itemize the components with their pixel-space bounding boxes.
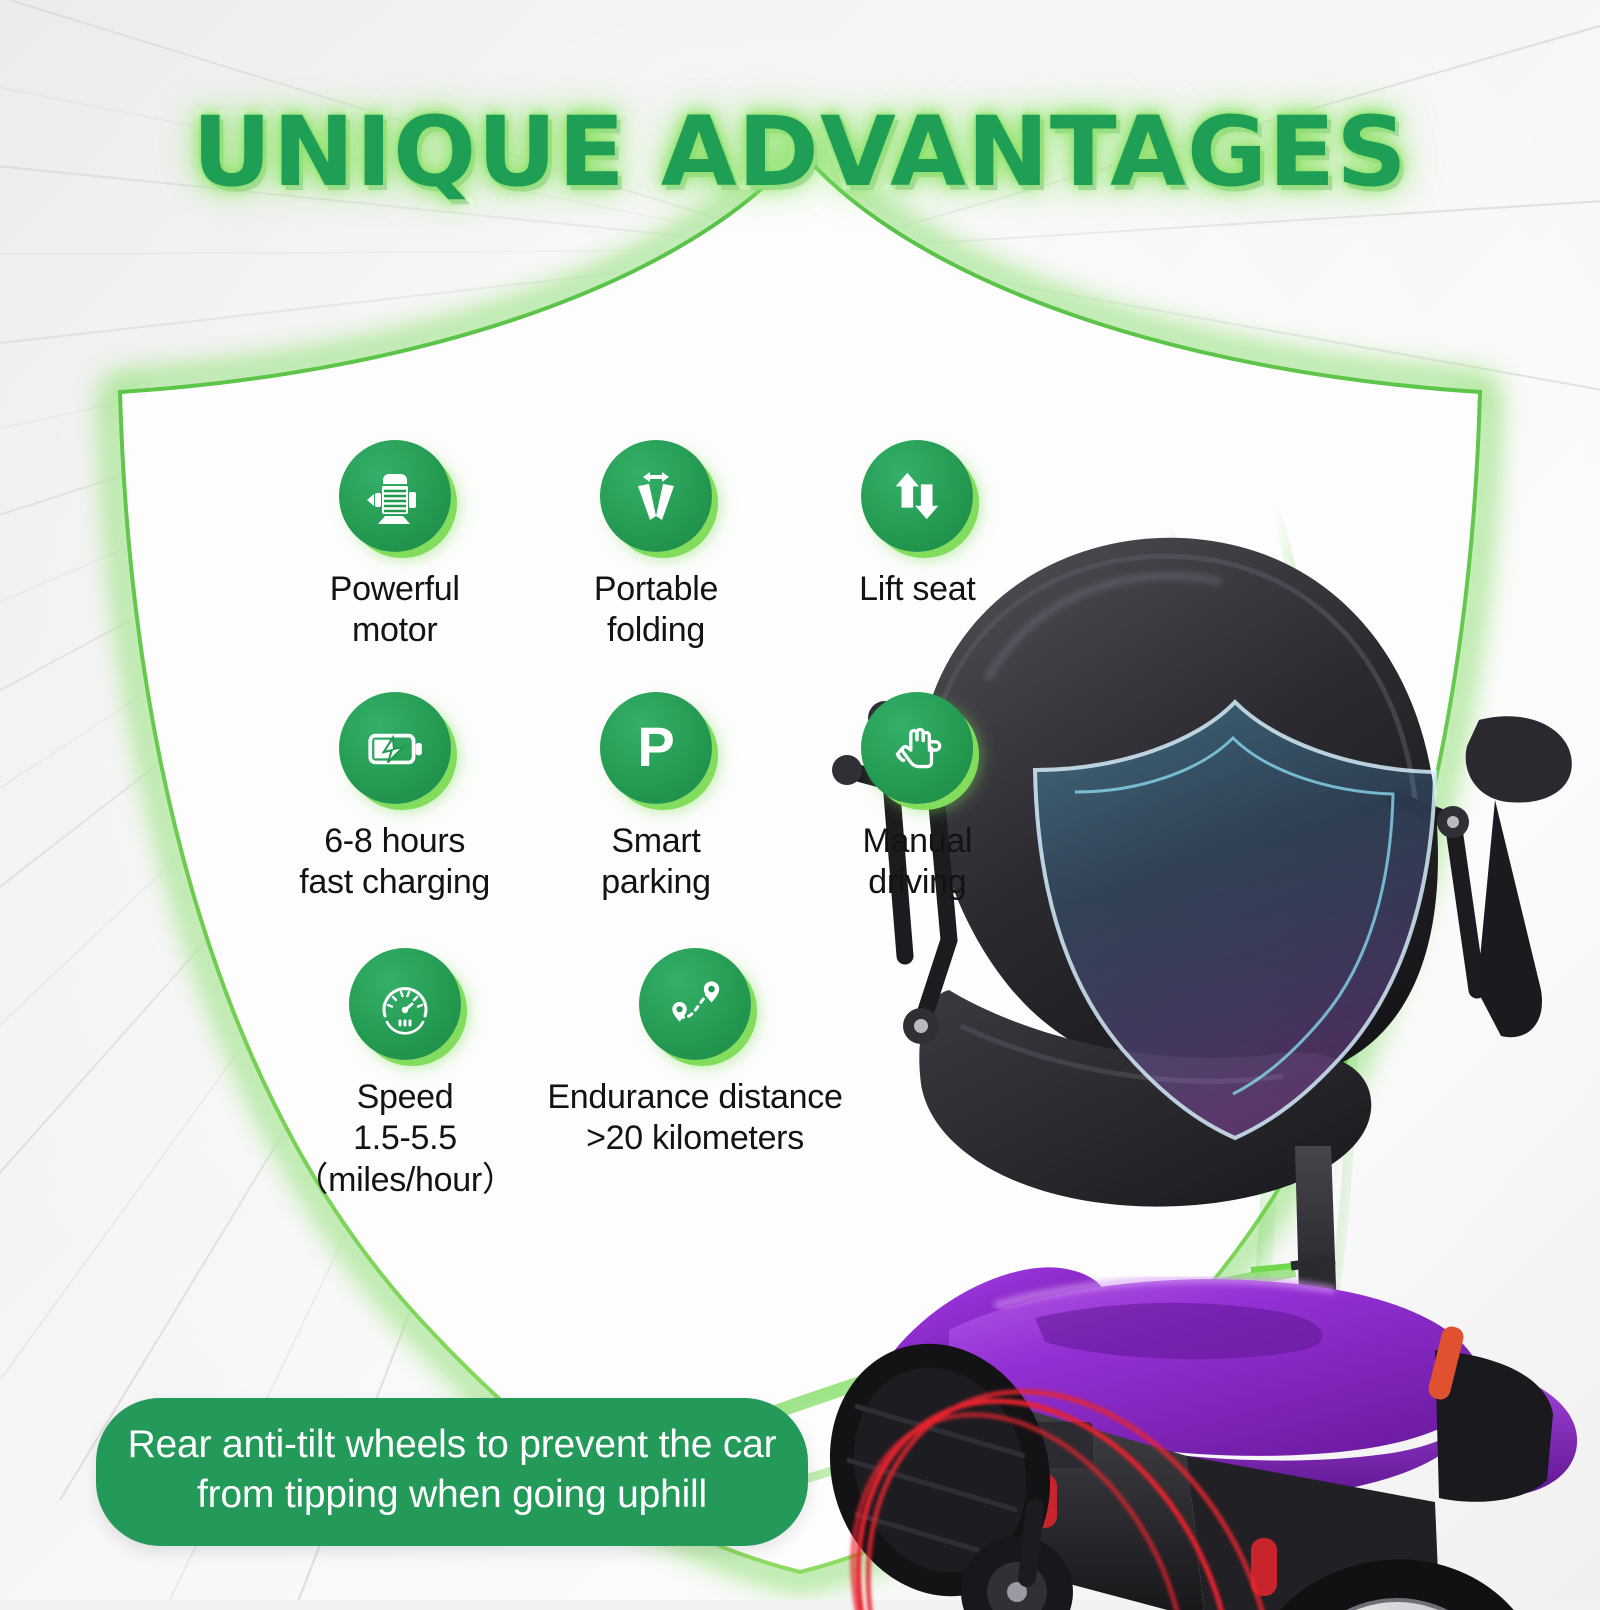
features-row-3: Speed 1.5-5.5 （miles/hour） Endurance dis…: [280, 948, 1048, 1201]
feature-speed[interactable]: Speed 1.5-5.5 （miles/hour）: [280, 948, 530, 1201]
feature-smart-parking[interactable]: P Smart parking: [525, 692, 786, 944]
page-title-container: UNIQUE ADVANTAGES: [0, 96, 1600, 208]
feature-fast-charging[interactable]: 6-8 hours fast charging: [264, 692, 525, 944]
route-distance-icon: [639, 948, 751, 1060]
parking-p-icon: P: [600, 692, 712, 804]
feature-label: Portable folding: [594, 569, 718, 652]
feature-label: Smart parking: [601, 821, 710, 904]
battery-charge-icon: [339, 692, 451, 804]
feature-manual-driving[interactable]: Manual driving: [787, 692, 1048, 944]
manual-hand-icon: [861, 692, 973, 804]
folding-icon: [600, 440, 712, 552]
feature-lift-seat[interactable]: Lift seat: [787, 440, 1048, 688]
page-title: UNIQUE ADVANTAGES: [192, 96, 1408, 208]
features-row-2: 6-8 hours fast charging P Smart parking: [264, 692, 1048, 944]
feature-powerful-motor[interactable]: Powerful motor: [264, 440, 525, 688]
feature-endurance-distance[interactable]: Endurance distance >20 kilometers: [530, 948, 860, 1201]
lift-seat-icon: [861, 440, 973, 552]
bottom-caption-banner: Rear anti-tilt wheels to prevent the car…: [96, 1398, 808, 1546]
feature-portable-folding[interactable]: Portable folding: [525, 440, 786, 688]
feature-label: Powerful motor: [330, 569, 460, 652]
motor-icon: [339, 440, 451, 552]
svg-text:P: P: [637, 716, 674, 778]
feature-label: Manual driving: [862, 821, 972, 904]
feature-label: Endurance distance >20 kilometers: [547, 1077, 842, 1160]
feature-label: Lift seat: [859, 569, 975, 610]
features-row-1: Powerful motor Portable folding: [264, 440, 1048, 688]
speedometer-icon: [349, 948, 461, 1060]
feature-label: 6-8 hours fast charging: [299, 821, 490, 904]
feature-label: Speed 1.5-5.5 （miles/hour）: [294, 1077, 515, 1201]
features-grid: Powerful motor Portable folding: [258, 440, 1048, 1201]
